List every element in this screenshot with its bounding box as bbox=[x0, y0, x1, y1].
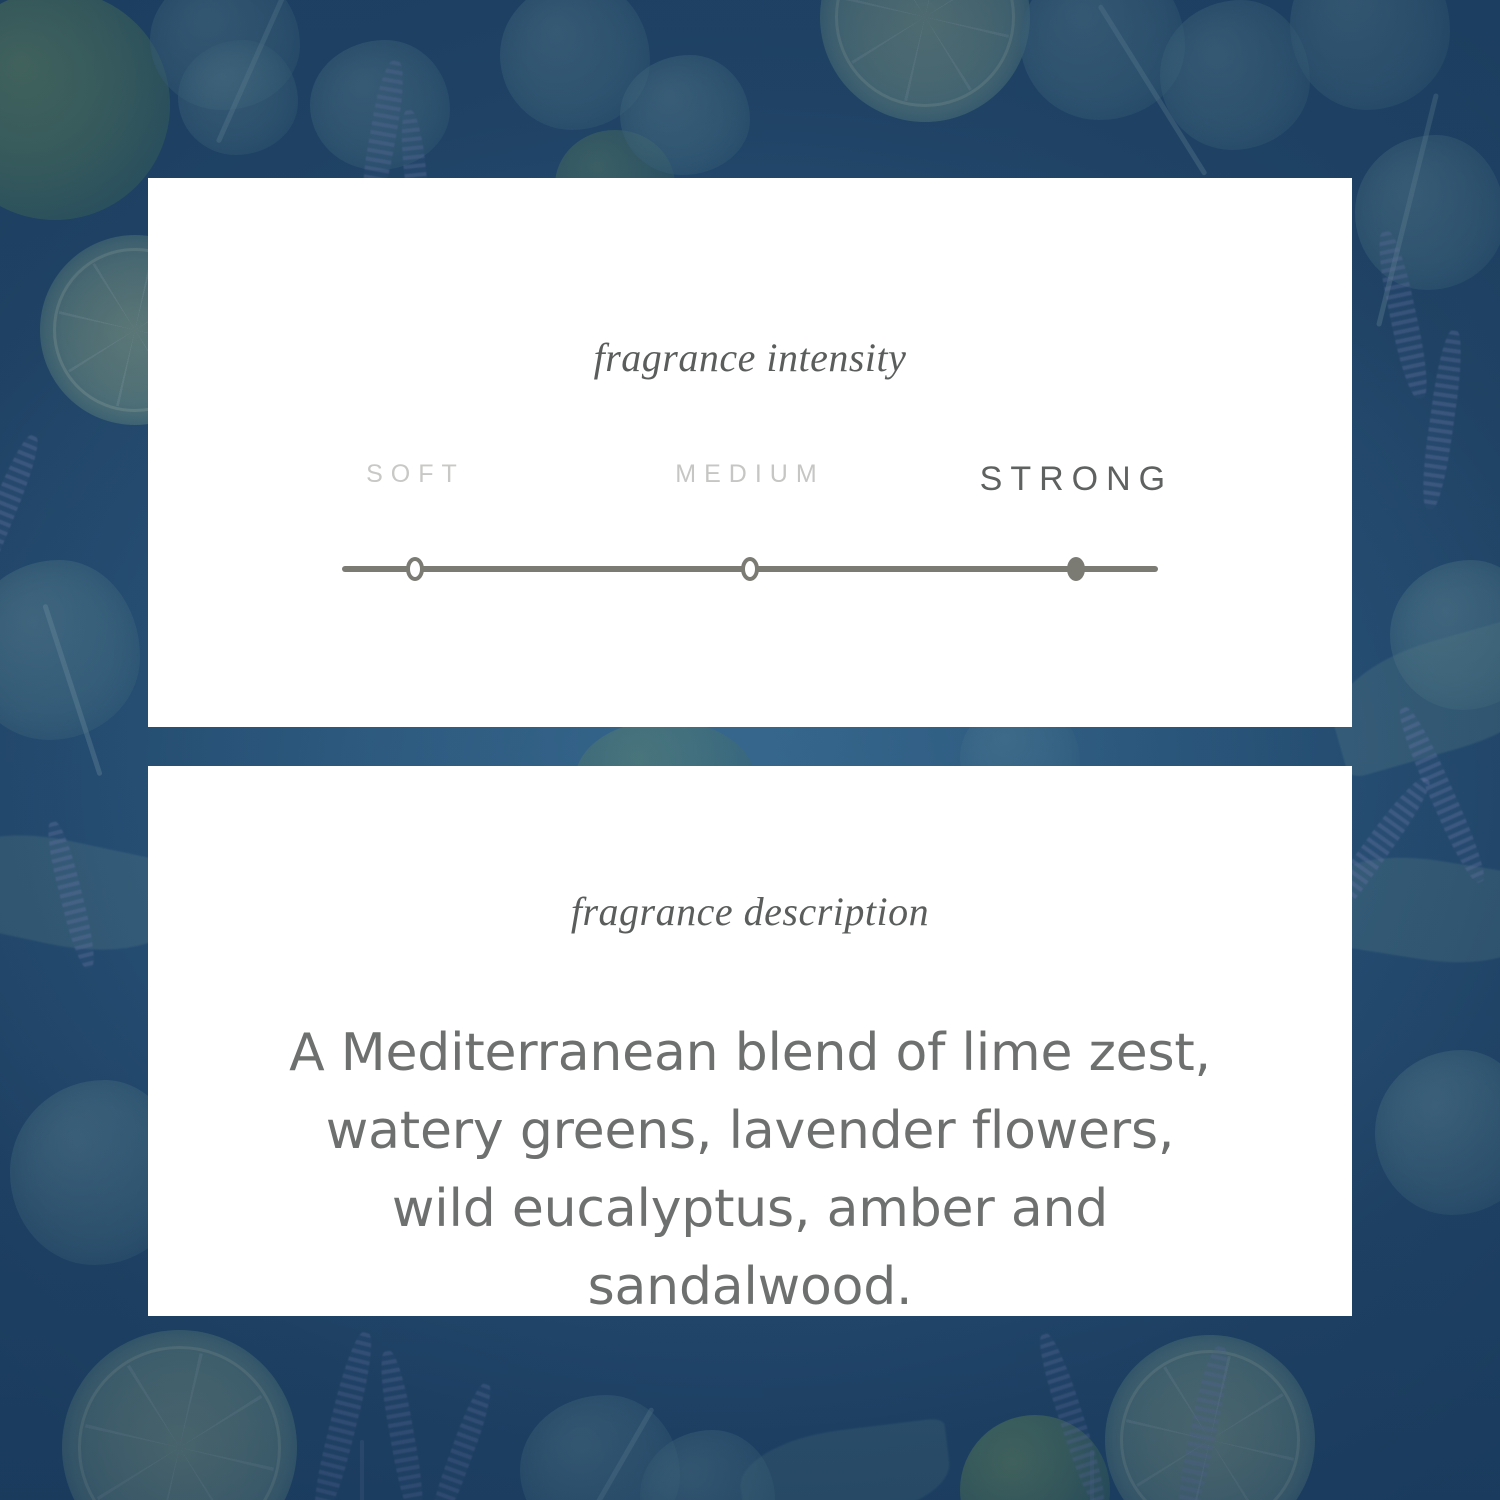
scale-dot-medium[interactable] bbox=[741, 557, 759, 581]
scale-label-soft: SOFT bbox=[366, 460, 465, 489]
scale-dot-strong-selected[interactable] bbox=[1067, 557, 1085, 581]
scale-track-wrapper[interactable] bbox=[342, 554, 1158, 584]
fragrance-intensity-card: fragrance intensity SOFT MEDIUM STRONG bbox=[148, 178, 1352, 727]
scale-label-row: SOFT MEDIUM STRONG bbox=[342, 460, 1158, 508]
fragrance-intensity-scale[interactable]: SOFT MEDIUM STRONG bbox=[342, 460, 1158, 584]
fragrance-intensity-heading: fragrance intensity bbox=[148, 334, 1352, 381]
scale-label-strong: STRONG bbox=[980, 460, 1173, 499]
product-detail-panel: fragrance intensity SOFT MEDIUM STRONG f… bbox=[0, 0, 1500, 1500]
scale-dot-soft[interactable] bbox=[406, 557, 424, 581]
fragrance-description-heading: fragrance description bbox=[148, 888, 1352, 935]
fragrance-description-text: A Mediterranean blend of lime zest, wate… bbox=[268, 1014, 1232, 1326]
fragrance-description-card: fragrance description A Mediterranean bl… bbox=[148, 766, 1352, 1316]
scale-label-medium: MEDIUM bbox=[675, 460, 824, 489]
